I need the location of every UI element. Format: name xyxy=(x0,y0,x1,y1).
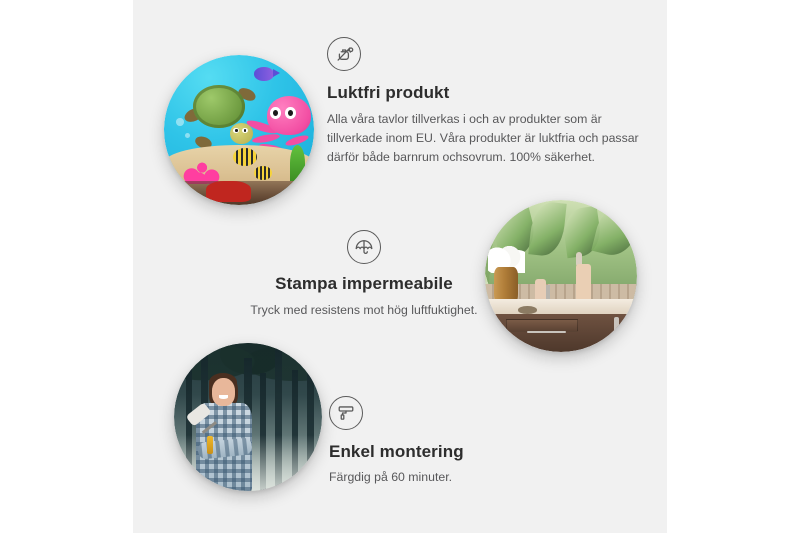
feature-title: Stampa impermeabile xyxy=(188,273,540,294)
red-object xyxy=(206,181,251,202)
feature-description: Alla våra tavlor tillverkas i och av pro… xyxy=(327,110,639,166)
no-smell-perfume-bottle-icon xyxy=(327,37,361,71)
feature-easy-mounting: Enkel montering Färgdig på 60 minuter. xyxy=(329,396,629,487)
sea-turtle-icon xyxy=(188,85,254,145)
feature-description: Tryck med resistens mot hög luftfuktighe… xyxy=(188,301,540,320)
yellow-fish-icon xyxy=(254,166,272,180)
umbrella-icon xyxy=(347,230,381,264)
feature-title: Luktfri produkt xyxy=(327,82,639,103)
pink-coral-icon xyxy=(179,145,221,184)
woman-painter xyxy=(192,376,269,491)
feature-waterproof: Stampa impermeabile Tryck med resistens … xyxy=(188,230,540,320)
feature-odourless: Luktfri produkt Alla våra tavlor tillver… xyxy=(327,37,639,166)
product-feature-infographic: Luktfri produkt Alla våra tavlor tillver… xyxy=(0,0,800,533)
feature-description: Färgdig på 60 minuter. xyxy=(329,468,629,487)
content-panel: Luktfri produkt Alla våra tavlor tillver… xyxy=(133,0,667,533)
feature-title: Enkel montering xyxy=(329,441,629,462)
paint-roller-icon xyxy=(329,396,363,430)
blue-fish-icon xyxy=(254,67,274,81)
green-seaweed-icon xyxy=(290,145,305,181)
soap-dispenser xyxy=(576,264,591,304)
image-painter-forest xyxy=(174,343,322,491)
yellow-fish-icon xyxy=(233,148,257,166)
bubble-icon xyxy=(176,118,184,126)
image-underwater-scene xyxy=(164,55,314,205)
